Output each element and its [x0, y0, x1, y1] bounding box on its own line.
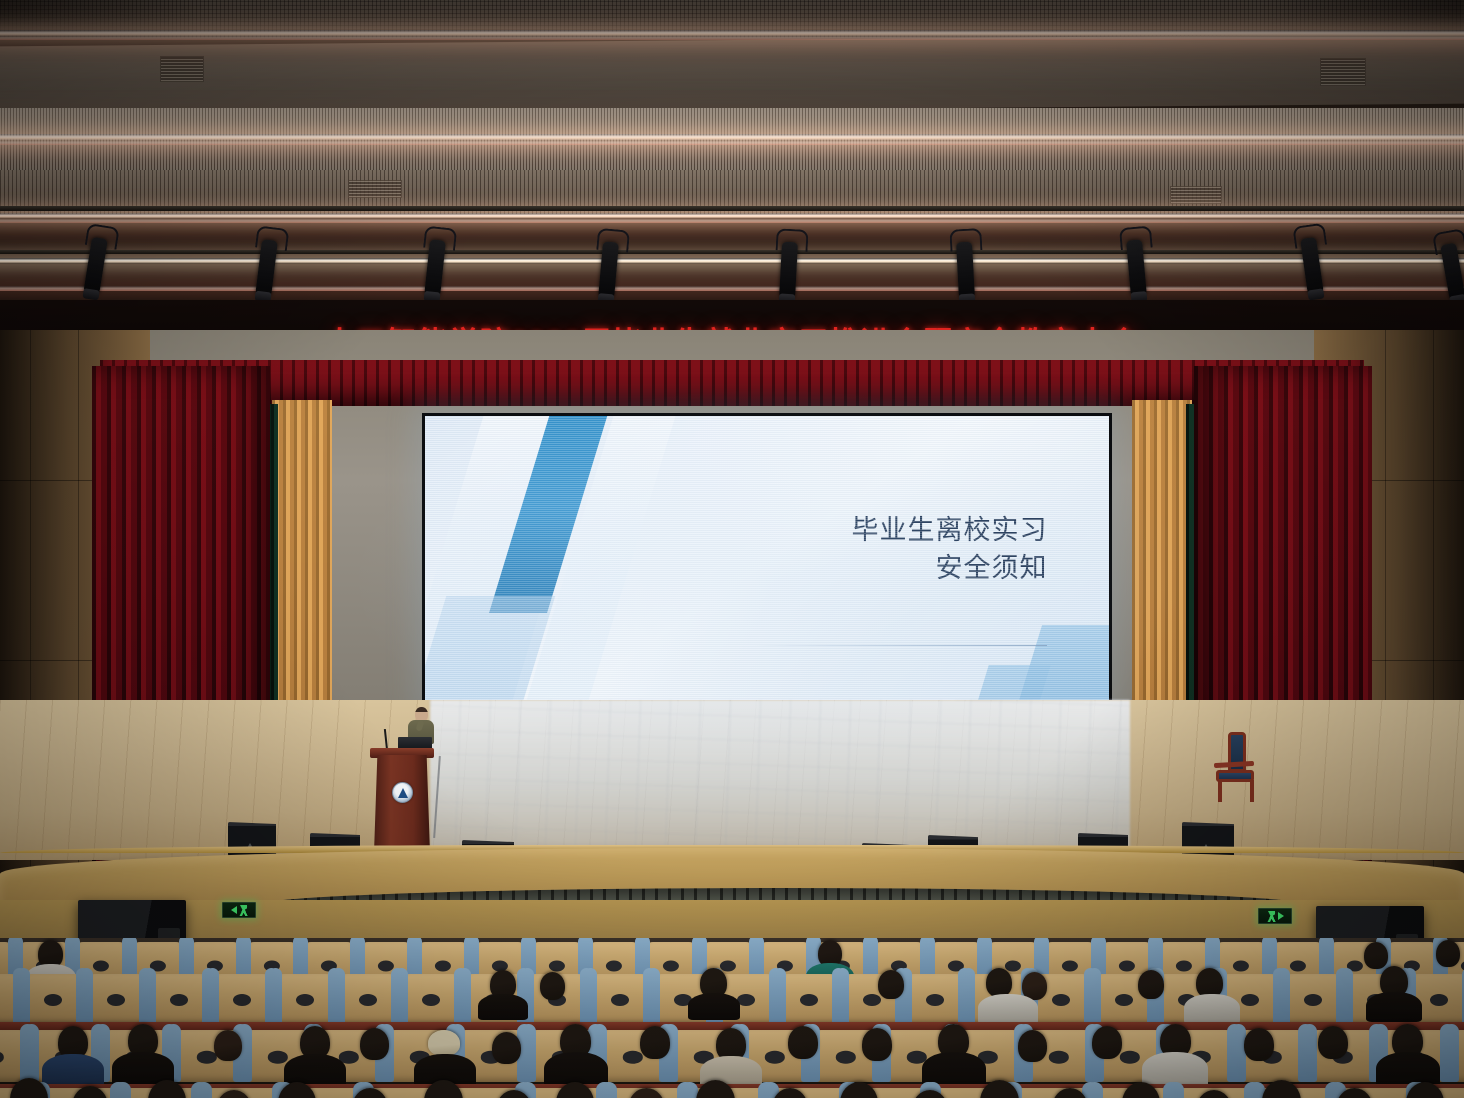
audience-head — [540, 972, 565, 1000]
seat[interactable] — [590, 974, 650, 1024]
slide-title-text: 毕业生离校实习 安全须知 — [851, 512, 1047, 589]
audience-head — [1244, 1028, 1274, 1061]
chair-leg — [1218, 780, 1222, 802]
podium — [374, 755, 430, 853]
seat[interactable] — [1451, 1030, 1464, 1082]
seat[interactable] — [338, 974, 398, 1024]
presentation-slide: 毕业生离校实习 安全须知 — [425, 416, 1109, 706]
audience-shoulders — [1184, 994, 1240, 1024]
audience-head — [1318, 1026, 1348, 1059]
audience-head — [360, 1028, 389, 1060]
seat[interactable] — [23, 974, 83, 1024]
slide-underline-rule — [753, 645, 1047, 646]
lighting-truss — [0, 206, 1464, 211]
seat[interactable] — [401, 974, 461, 1024]
stage-spotlight — [598, 241, 619, 300]
chair-leg — [1250, 780, 1254, 802]
audience-head — [640, 1026, 670, 1059]
ceiling-vent — [1170, 186, 1222, 204]
stage-floor-lit-area — [430, 700, 1130, 850]
seat[interactable] — [86, 974, 146, 1024]
audience-head — [878, 970, 904, 999]
exit-sign-right — [1258, 908, 1292, 924]
audience-head — [1364, 942, 1388, 969]
exit-sign-left — [222, 902, 256, 918]
seat[interactable] — [149, 974, 209, 1024]
audience-head — [788, 1026, 818, 1059]
audience-head — [986, 968, 1012, 997]
audience-shoulders — [688, 993, 740, 1020]
stage-spotlight — [956, 242, 975, 301]
running-person-icon — [239, 905, 248, 916]
led-screen: 毕业生离校实习 安全须知 — [422, 413, 1112, 709]
running-person-icon — [1267, 911, 1276, 922]
audience-head — [1018, 1030, 1047, 1062]
ceiling-light-strip — [0, 219, 1464, 223]
ceiling-light-strip — [0, 286, 1464, 291]
audience-head — [1262, 1080, 1301, 1098]
audience-head — [492, 1032, 521, 1064]
audience-head — [1138, 970, 1164, 999]
audience-head — [1436, 940, 1460, 967]
seat[interactable] — [212, 974, 272, 1024]
ceiling-light-strip — [0, 134, 1464, 141]
stage-spotlight — [779, 242, 798, 301]
stage-chair — [1212, 732, 1260, 800]
audience-shoulders — [1366, 992, 1422, 1022]
exit-arrow-icon — [231, 906, 237, 914]
ceiling-slab-1 — [0, 33, 1464, 117]
audience-shoulders — [978, 994, 1038, 1024]
seat[interactable] — [779, 974, 839, 1024]
ceiling-vent — [1320, 58, 1366, 86]
audience-shoulders — [42, 1054, 104, 1088]
ceiling-light-strip — [0, 141, 1464, 145]
ceiling-vent — [348, 180, 402, 198]
audience-head — [214, 1030, 242, 1061]
university-emblem-icon — [392, 782, 413, 803]
ceiling-vent — [160, 56, 204, 82]
audience-head — [862, 1028, 892, 1061]
seat[interactable] — [1283, 974, 1343, 1024]
audience-head — [1092, 1026, 1122, 1059]
audience-shoulders — [478, 994, 528, 1020]
seat[interactable] — [275, 974, 335, 1024]
chair-arm — [1214, 761, 1254, 768]
ceiling-light-strip — [0, 36, 1464, 40]
ceiling — [0, 0, 1464, 330]
auditorium-photo: 人工智能学院2026届毕业生就业实习推进会暨安全教育大会 毕业生离校实习 安全须… — [0, 0, 1464, 1098]
lighting-truss — [0, 250, 1464, 254]
audience-seating — [0, 938, 1464, 1098]
exit-arrow-icon — [1278, 912, 1284, 920]
audience-head-with-cap — [428, 1030, 460, 1056]
seat[interactable] — [905, 974, 965, 1024]
ceiling-light-strip — [0, 258, 1464, 264]
